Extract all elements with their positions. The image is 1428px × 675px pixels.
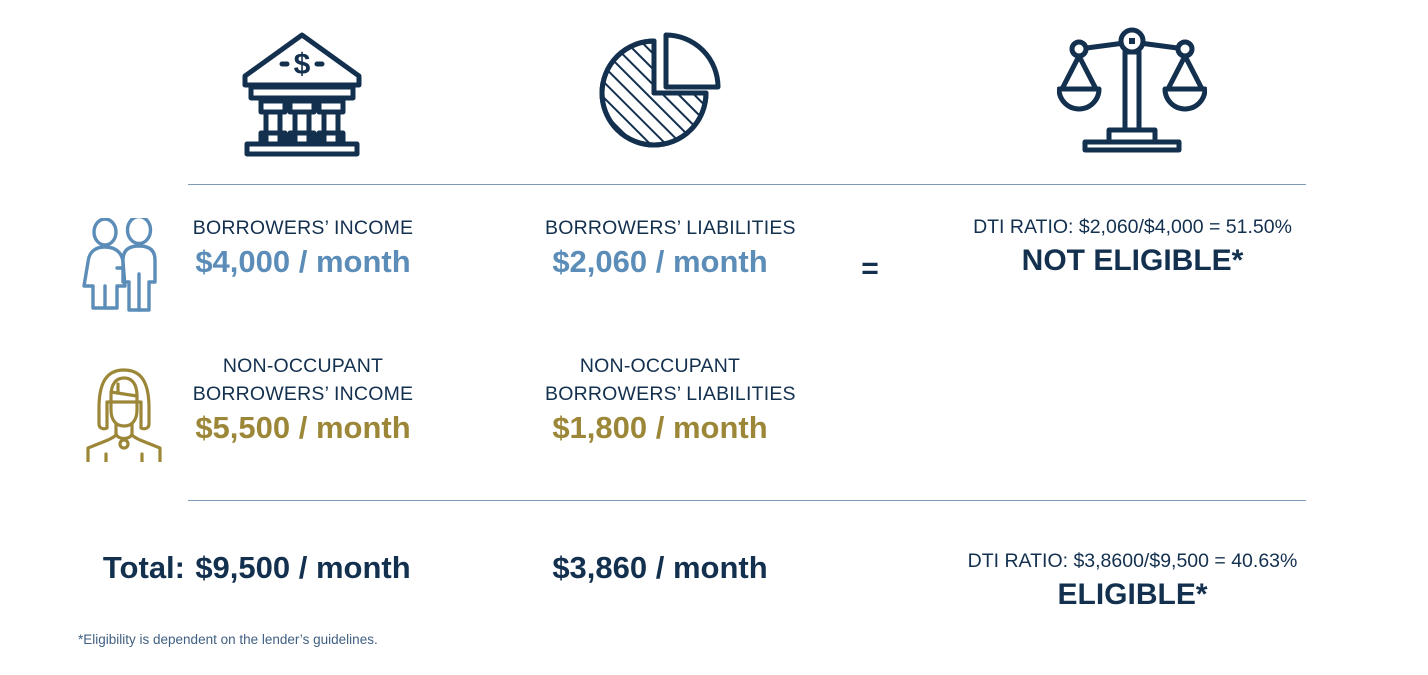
total-result-cell: DTI RATIO: $3,8600/$9,500 = 40.63% ELIGI… (960, 548, 1305, 615)
non-occupant-income-amount: $5,500 / month (188, 408, 418, 448)
total-label: Total: (40, 548, 185, 588)
total-eligibility-verdict: ELIGIBLE* (960, 575, 1305, 615)
total-row: Total: $9,500 / month $3,860 / month DTI… (0, 528, 1428, 618)
eligibility-footnote: *Eligibility is dependent on the lender’… (78, 631, 378, 649)
equals-sign: = (840, 254, 900, 284)
non-occupant-liabilities-cell: NON-OCCUPANT BORROWERS’ LIABILITIES $1,8… (545, 352, 775, 448)
borrowers-dti-ratio: DTI RATIO: $2,060/$4,000 = 51.50% (960, 214, 1305, 241)
borrowers-row: BORROWERS’ INCOME $4,000 / month BORROWE… (0, 214, 1428, 326)
couple-borrowers-icon (76, 218, 172, 314)
borrowers-income-cell: BORROWERS’ INCOME $4,000 / month (188, 214, 418, 282)
total-dti-ratio: DTI RATIO: $3,8600/$9,500 = 40.63% (960, 548, 1305, 575)
bank-building-dollar-icon: $ (188, 22, 416, 162)
divider-top (188, 184, 1306, 185)
borrowers-income-amount: $4,000 / month (188, 242, 418, 282)
borrowers-eligibility-verdict: NOT ELIGIBLE* (960, 241, 1305, 281)
borrowers-liabilities-amount: $2,060 / month (545, 242, 775, 282)
total-income-amount: $9,500 / month (188, 548, 418, 588)
borrowers-liabilities-label: BORROWERS’ LIABILITIES (545, 214, 775, 242)
divider-bottom (188, 500, 1306, 501)
non-occupant-income-label-line2: BORROWERS’ INCOME (188, 380, 418, 408)
borrowers-income-label: BORROWERS’ INCOME (188, 214, 418, 242)
non-occupant-row: NON-OCCUPANT BORROWERS’ INCOME $5,500 / … (0, 352, 1428, 477)
total-income-cell: $9,500 / month (188, 548, 418, 588)
non-occupant-income-cell: NON-OCCUPANT BORROWERS’ INCOME $5,500 / … (188, 352, 418, 448)
svg-text:$: $ (294, 48, 311, 81)
total-liabilities-cell: $3,860 / month (545, 548, 775, 588)
non-occupant-liabilities-label-line1: NON-OCCUPANT (545, 352, 775, 380)
non-occupant-liabilities-label-line2: BORROWERS’ LIABILITIES (545, 380, 775, 408)
borrowers-result-cell: DTI RATIO: $2,060/$4,000 = 51.50% NOT EL… (960, 214, 1305, 281)
non-occupant-income-label-line1: NON-OCCUPANT (188, 352, 418, 380)
pie-chart-icon (545, 22, 773, 162)
header-icon-row: $ (0, 0, 1428, 178)
non-occupant-liabilities-amount: $1,800 / month (545, 408, 775, 448)
balance-scales-icon (1018, 22, 1246, 162)
non-occupant-borrower-icon (76, 362, 172, 462)
total-liabilities-amount: $3,860 / month (545, 548, 775, 588)
borrowers-liabilities-cell: BORROWERS’ LIABILITIES $2,060 / month (545, 214, 775, 282)
dti-ratio-infographic: $ (0, 0, 1428, 675)
